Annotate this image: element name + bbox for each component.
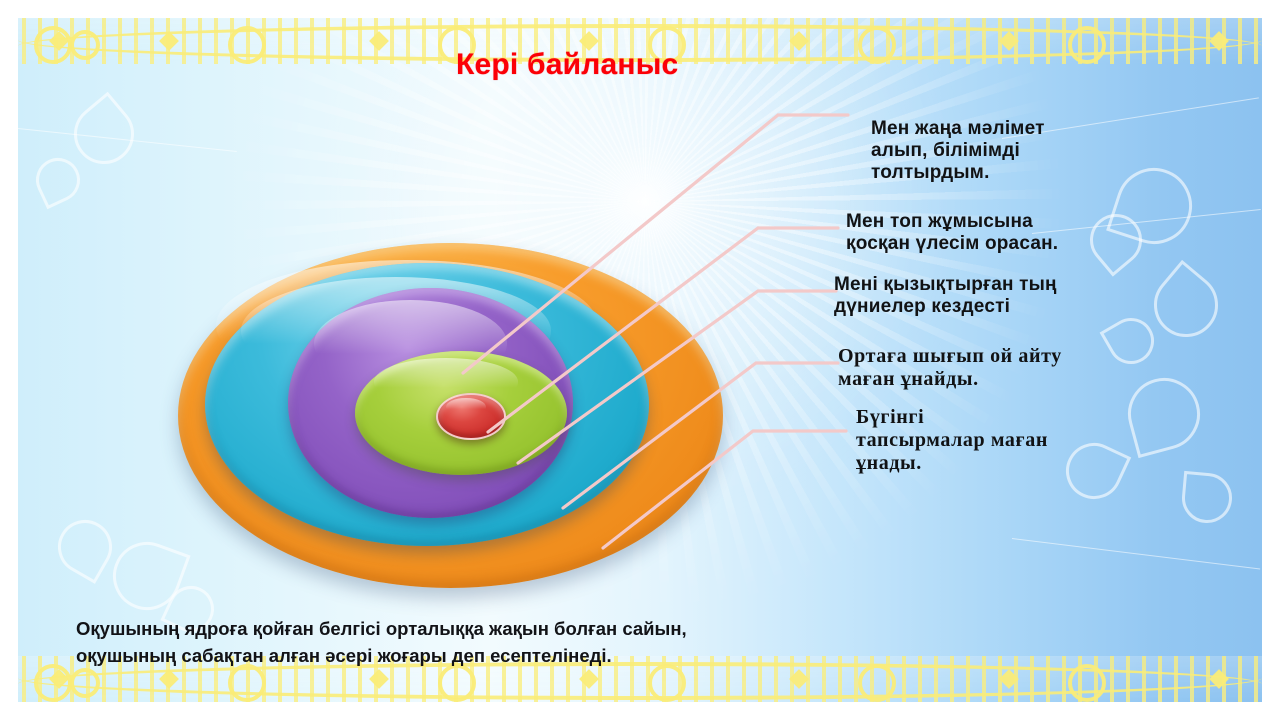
callout-label-4: Ортаға шығып ой айту маған ұнайды. — [838, 345, 1193, 391]
slide-canvas: Кері байланыс Мен жаңа мәлімет алып, біл… — [18, 18, 1262, 702]
callout-label-1: Мен жаңа мәлімет алып, білімімді толтырд… — [871, 118, 1201, 184]
callout-label-2: Мен топ жұмысына қосқан үлесім орасан. — [846, 211, 1196, 255]
target-core-red[interactable] — [436, 393, 506, 440]
callout-label-3: Мені қызықтырған тың дүниелер кездесті — [834, 274, 1189, 318]
callout-label-5: Бүгінгі тапсырмалар маған ұнады. — [856, 406, 1206, 476]
footnote-text: Оқушының ядроға қойған белгісі орталыққа… — [76, 616, 816, 670]
